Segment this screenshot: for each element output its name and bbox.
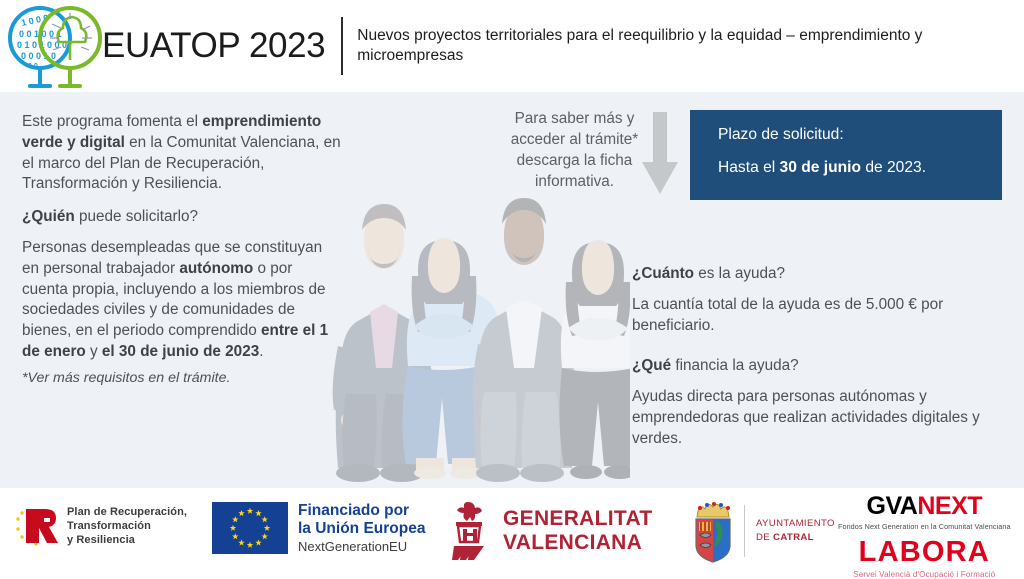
intro-pre: Este programa fomenta el	[22, 113, 202, 130]
plazo-date-bold: 30 de junio	[780, 159, 861, 176]
four-people-illustration	[300, 176, 630, 488]
header-subtitle: Nuevos proyectos territoriales para el r…	[357, 26, 1024, 67]
header: 1 0 0 0 0 0 1 0 0 1 0 1 0 1 0 0 0 0 0 0 …	[0, 0, 1024, 92]
labora-subtitle: Servei Valencià d'Ocupació i Formació	[838, 570, 1011, 579]
gva-next-red: NEXT	[917, 492, 982, 520]
answer-bold-autonomo: autónomo	[179, 260, 253, 277]
ayto-line1: AYUNTAMIENTO	[756, 517, 835, 531]
plazo-pre: Hasta el	[718, 159, 780, 176]
plan-recuperacion-logo: Plan de Recuperación, Transformación y R…	[14, 505, 187, 549]
plazo-label: Plazo de solicitud:	[718, 126, 1002, 145]
gva-next-subtitle: Fondos Next Generation en la Comunitat V…	[838, 522, 1011, 531]
header-divider	[341, 17, 343, 75]
answer-bold-junio: el 30 de junio de 2023	[102, 343, 259, 360]
ayuntamiento-catral-logo: AYUNTAMIENTO DE CATRAL	[690, 499, 835, 563]
gva-next-labora-block: GVANEXT Fondos Next Generation en la Com…	[838, 494, 1011, 579]
intro-paragraph: Este programa fomenta el emprendimiento …	[22, 112, 342, 195]
person-3	[473, 198, 576, 482]
generalitat-valenciana-text: GENERALITAT VALENCIANA	[503, 507, 653, 554]
gva-line2: VALENCIANA	[503, 531, 653, 555]
euatop-circles-logo: 1 0 0 0 0 0 1 0 0 1 0 1 0 1 0 0 0 0 0 0 …	[0, 0, 108, 92]
svg-text:0 0: 0 0	[28, 63, 38, 70]
eu-line1: Financiado por	[298, 502, 425, 520]
body-area: Este programa fomenta el emprendimiento …	[0, 92, 1024, 488]
brand-title: EUATOP 2023	[102, 26, 325, 66]
question-cuanto-rest: es la ayuda?	[694, 265, 785, 282]
plazo-value: Hasta el 30 de junio de 2023.	[718, 159, 1002, 178]
question-cuanto-bold: ¿Cuánto	[632, 265, 694, 282]
question-quien: ¿Quién puede solicitarlo?	[22, 207, 342, 228]
plazo-post: de 2023.	[861, 159, 926, 176]
gva-next-logo: GVANEXT Fondos Next Generation en la Com…	[838, 494, 1011, 579]
ayto-line2: DE CATRAL	[756, 531, 835, 545]
poster: 1 0 0 0 0 0 1 0 0 1 0 1 0 1 0 0 0 0 0 0 …	[0, 0, 1024, 576]
eu-flag-icon	[212, 502, 288, 554]
question-quien-bold: ¿Quién	[22, 208, 75, 225]
catral-coat-of-arms-icon	[690, 499, 736, 563]
prtr-line1: Plan de Recuperación,	[67, 506, 187, 520]
right-text-column: ¿Cuánto es la ayuda? La cuantía total de…	[632, 264, 1012, 460]
left-text-column: Este programa fomenta el emprendimiento …	[22, 112, 342, 400]
union-europea-text: Financiado por la Unión Europea NextGene…	[298, 502, 425, 554]
ayto-line2-bold: CATRAL	[773, 532, 814, 543]
eu-line2: la Unión Europea	[298, 520, 425, 538]
footer-logos: Plan de Recuperación, Transformación y R…	[0, 488, 1024, 576]
plazo-solicitud-box: Plazo de solicitud: Hasta el 30 de junio…	[690, 110, 1002, 200]
answer-part-4: .	[259, 343, 263, 360]
answer-part-3: y	[86, 343, 102, 360]
que-block: ¿Qué financia la ayuda? Ayudas directa p…	[632, 356, 1012, 449]
person-4	[559, 240, 630, 479]
footnote-requisitos: *Ver más requisitos en el trámite.	[22, 369, 342, 388]
eu-line3: NextGenerationEU	[298, 539, 425, 554]
center-callout-text: Para saber más y acceder al trámite* des…	[487, 108, 662, 192]
gva-next-wordmark: GVANEXT	[838, 494, 1011, 519]
answer-cuanto: La cuantía total de la ayuda es de 5.000…	[632, 295, 1012, 337]
question-que: ¿Qué financia la ayuda?	[632, 356, 1012, 377]
gva-next-black: GVA	[867, 492, 918, 520]
labora-wordmark: LABORA	[838, 538, 1011, 567]
answer-que: Ayudas directa para personas autónomas y…	[632, 387, 1012, 449]
generalitat-valenciana-logo: GENERALITAT VALENCIANA	[446, 500, 653, 562]
question-cuanto: ¿Cuánto es la ayuda?	[632, 264, 1012, 285]
ayuntamiento-catral-text: AYUNTAMIENTO DE CATRAL	[756, 517, 835, 545]
plan-recuperacion-text: Plan de Recuperación, Transformación y R…	[67, 506, 187, 547]
ayto-line2-pre: DE	[756, 532, 773, 543]
prtr-line3: y Resiliencia	[67, 534, 187, 548]
cuanto-block: ¿Cuánto es la ayuda? La cuantía total de…	[632, 264, 1012, 336]
union-europea-logo: Financiado por la Unión Europea NextGene…	[212, 502, 425, 554]
euatop-logo-svg: 1 0 0 0 0 0 1 0 0 1 0 1 0 1 0 0 0 0 0 0 …	[4, 4, 106, 90]
question-que-bold: ¿Qué	[632, 357, 671, 374]
prtr-line2: Transformación	[67, 520, 187, 534]
generalitat-crest-icon	[446, 500, 494, 562]
question-quien-rest: puede solicitarlo?	[75, 208, 198, 225]
arrow-down-icon	[640, 112, 680, 196]
gva-line1: GENERALITAT	[503, 507, 653, 531]
ayuntamiento-divider	[744, 505, 745, 557]
question-que-rest: financia la ayuda?	[671, 357, 799, 374]
spain-tr-flag-icon	[14, 505, 60, 549]
answer-quien: Personas desempleadas que se constituyan…	[22, 238, 342, 363]
